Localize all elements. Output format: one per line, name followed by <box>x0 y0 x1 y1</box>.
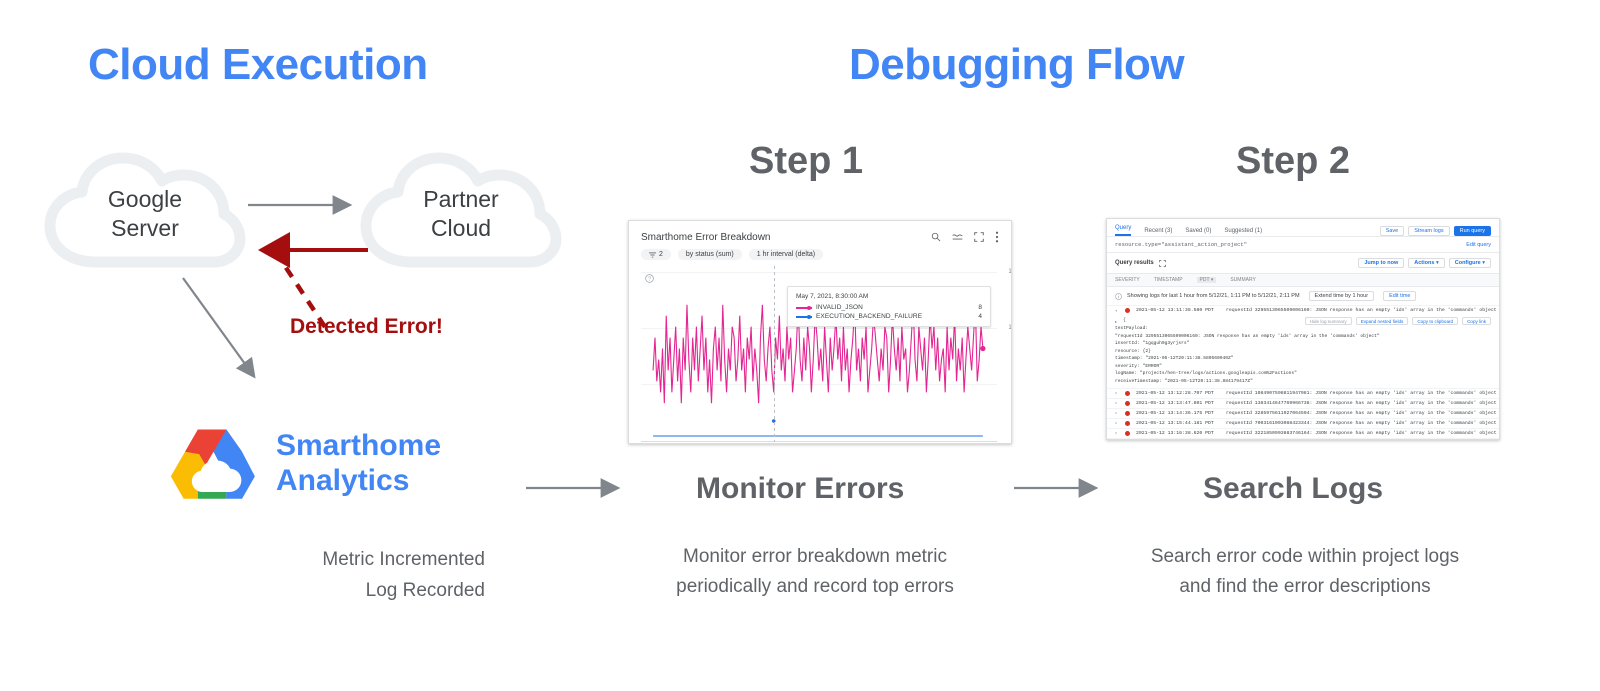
severity-error-icon <box>1125 401 1130 406</box>
fullscreen-icon[interactable] <box>974 232 984 242</box>
chart-tooltip: May 7, 2021, 8:30:00 AM INVALID_JSON 8 E… <box>787 286 991 327</box>
stream-logs-button[interactable]: Stream logs <box>1408 226 1449 236</box>
row-timestamp: 2021-05-12 13:13:47.801 PDT <box>1136 401 1220 406</box>
extend-time-button[interactable]: Extend time by 1 hour <box>1309 291 1375 301</box>
json-line-4: resource: {2} <box>1115 348 1491 356</box>
results-buttons[interactable]: Jump to now Actions ▾ Configure ▾ <box>1358 258 1491 268</box>
jump-to-now-button[interactable]: Jump to now <box>1358 258 1404 268</box>
column-timestamp: TIMESTAMP <box>1154 277 1183 283</box>
chart-plot-area[interactable]: ? 15 10 5 0 UTC-7 May 7 May 8 May 9 May … <box>641 266 1001 442</box>
severity-error-icon <box>1125 391 1130 396</box>
monitoring-chart-screenshot[interactable]: Smarthome Error Breakdown <box>628 220 1012 444</box>
time-range-banner: Showing logs for last 1 hour from 5/12/2… <box>1107 287 1499 305</box>
expanded-log-row[interactable]: ▾ 2021-05-12 13:11:38.580 PDT requestId … <box>1107 305 1499 315</box>
info-icon <box>1115 293 1122 300</box>
row-timestamp: 2021-05-12 13:12:28.707 PDT <box>1136 391 1220 396</box>
partner-cloud-line2: Cloud <box>431 214 491 243</box>
table-row[interactable]: ▸ 2021-05-12 13:48:08.891 PDT requestId … <box>1107 438 1499 440</box>
arrow-analytics-to-step1 <box>524 475 629 501</box>
more-vert-icon[interactable] <box>995 231 999 243</box>
highlight-point-invalid-json <box>980 346 985 351</box>
logo-line-1: Smarthome <box>276 428 441 463</box>
monitor-errors-description: Monitor error breakdown metric periodica… <box>660 542 970 603</box>
google-server-cloud: Google Server <box>44 150 246 272</box>
row-timestamp: 2021-05-12 13:16:38.620 PDT <box>1136 431 1220 436</box>
expanded-row-summary: requestId 3295513065509006160: JSON resp… <box>1226 308 1497 313</box>
copy-link-button[interactable]: Copy link <box>1462 317 1491 325</box>
ytick-10: 10 <box>1008 325 1012 331</box>
configure-button[interactable]: Configure ▾ <box>1449 258 1491 268</box>
chip-interval[interactable]: 1 hr interval (delta) <box>749 249 823 260</box>
json-line-8: receiveTimestamp: "2021-05-12T20:11:38.8… <box>1115 378 1491 386</box>
column-severity: SEVERITY <box>1115 277 1140 283</box>
metric-line-1: Metric Incremented <box>185 545 485 576</box>
tab-suggested[interactable]: Suggested (1) <box>1224 228 1262 234</box>
expand-caret-icon[interactable]: ▸ <box>1115 420 1119 426</box>
edit-time-button[interactable]: Edit time <box>1383 291 1416 301</box>
chart-toolbar[interactable] <box>931 231 999 243</box>
partner-cloud-label: Partner Cloud <box>360 150 562 272</box>
partner-cloud: Partner Cloud <box>360 150 562 272</box>
logs-column-headers: SEVERITY TIMESTAMP PDT ▾ SUMMARY <box>1107 273 1499 287</box>
json-expand-caret-icon[interactable]: ▸ <box>1115 319 1119 324</box>
log-entry-detail: ▸ { Hide log summary Expand nested field… <box>1107 315 1499 388</box>
tooltip-swatch-blue <box>796 316 812 318</box>
chart-filter-chips[interactable]: 2 by status (sum) 1 hr interval (delta) <box>629 245 1011 266</box>
compare-icon[interactable] <box>952 232 963 242</box>
query-text: resource.type="assistant_action_project" <box>1115 241 1247 248</box>
edit-query-button[interactable]: Edit query <box>1466 242 1491 248</box>
cloud-execution-title: Cloud Execution <box>88 40 428 90</box>
expand-caret-icon[interactable]: ▸ <box>1115 410 1119 416</box>
severity-error-icon <box>1125 421 1130 426</box>
tooltip-date: May 7, 2021, 8:30:00 AM <box>796 293 982 300</box>
json-line-3: insertId: "1gqguh0g3yrjsrs" <box>1115 340 1491 348</box>
tooltip-name-invalid-json: INVALID_JSON <box>816 304 958 311</box>
tooltip-value-invalid-json: 8 <box>962 304 982 311</box>
save-button[interactable]: Save <box>1380 226 1405 236</box>
expand-nested-fields-button[interactable]: Expand nested fields <box>1356 317 1409 325</box>
zoom-icon[interactable] <box>931 232 941 242</box>
row-summary: requestId 3221850903883746164: JSON resp… <box>1226 431 1497 436</box>
actions-button[interactable]: Actions ▾ <box>1408 258 1444 268</box>
chart-header: Smarthome Error Breakdown <box>629 221 1011 245</box>
logo-line-2: Analytics <box>276 463 441 498</box>
tooltip-value-backend-failure: 4 <box>962 313 982 320</box>
time-range-text: Showing logs for last 1 hour from 5/12/2… <box>1127 293 1300 299</box>
hide-log-summary-button[interactable]: Hide log summary <box>1305 317 1352 325</box>
google-server-line1: Google <box>108 185 182 214</box>
filter-icon <box>649 252 656 258</box>
tab-recent[interactable]: Recent (3) <box>1144 228 1172 234</box>
json-line-0: { <box>1123 317 1126 325</box>
query-results-bar: Query results Jump to now Actions ▾ Conf… <box>1107 253 1499 273</box>
tooltip-row-invalid-json: INVALID_JSON 8 <box>796 304 982 311</box>
row-summary: requestId 7003161003088423344: JSON resp… <box>1226 421 1497 426</box>
table-row[interactable]: ▸ 2021-05-12 13:13:47.801 PDT requestId … <box>1107 398 1499 408</box>
query-editor[interactable]: resource.type="assistant_action_project"… <box>1107 236 1499 253</box>
expanded-row-timestamp: 2021-05-12 13:11:38.580 PDT <box>1136 308 1220 313</box>
ytick-15: 15 <box>1008 269 1012 275</box>
step-2-heading: Step 2 <box>1236 140 1350 183</box>
expand-caret-icon[interactable]: ▸ <box>1115 400 1119 406</box>
arrow-server-to-analytics <box>175 270 285 395</box>
google-cloud-logo-icon <box>158 424 266 516</box>
tab-saved[interactable]: Saved (0) <box>1185 228 1211 234</box>
row-summary: requestId 3285975611927064504: JSON resp… <box>1226 411 1497 416</box>
logs-tabs[interactable]: Query Recent (3) Saved (0) Suggested (1)… <box>1107 219 1499 236</box>
logs-explorer-screenshot[interactable]: Query Recent (3) Saved (0) Suggested (1)… <box>1106 218 1500 440</box>
detected-error-label: Detected Error! <box>290 315 443 339</box>
google-cloud-logo <box>158 424 266 521</box>
step-1-heading: Step 1 <box>749 140 863 183</box>
chip-filter-count[interactable]: 2 <box>641 249 671 260</box>
json-line-2: "requestId 3295513065509006160: JSON res… <box>1115 333 1491 341</box>
google-server-line2: Server <box>111 214 179 243</box>
search-logs-description: Search error code within project logs an… <box>1150 542 1460 603</box>
expand-caret-icon[interactable]: ▸ <box>1115 390 1119 396</box>
expand-caret-icon[interactable]: ▸ <box>1115 430 1119 436</box>
monitor-errors-label: Monitor Errors <box>696 472 904 506</box>
chart-cursor-line <box>774 266 775 442</box>
column-timezone[interactable]: PDT ▾ <box>1197 277 1217 283</box>
tooltip-name-backend-failure: EXECUTION_BACKEND_FAILURE <box>816 313 958 320</box>
column-summary: SUMMARY <box>1230 277 1255 283</box>
severity-error-icon <box>1125 431 1130 436</box>
severity-error-icon <box>1125 411 1130 416</box>
row-timestamp: 2021-05-12 13:14:36.175 PDT <box>1136 411 1220 416</box>
table-row[interactable]: ▸ 2021-05-12 13:16:38.620 PDT requestId … <box>1107 428 1499 438</box>
smarthome-analytics-label: Smarthome Analytics <box>276 428 441 499</box>
search-logs-label: Search Logs <box>1203 472 1383 506</box>
logs-header-buttons[interactable]: Save Stream logs Run query <box>1380 226 1491 236</box>
query-results-title: Query results <box>1115 260 1154 266</box>
json-line-6: severity: "ERROR" <box>1115 363 1491 371</box>
collapse-caret-icon[interactable]: ▾ <box>1115 308 1119 314</box>
chart-title: Smarthome Error Breakdown <box>641 232 771 243</box>
json-line-5: timestamp: "2021-05-12T20:11:38.58056094… <box>1115 355 1491 363</box>
row-summary: requestId 1383414647769966738: JSON resp… <box>1226 401 1497 406</box>
run-query-button[interactable]: Run query <box>1454 226 1491 236</box>
partner-cloud-line1: Partner <box>423 185 498 214</box>
arrow-step1-to-step2 <box>1012 475 1107 501</box>
google-server-label: Google Server <box>44 150 246 272</box>
chip-group-by[interactable]: by status (sum) <box>678 249 742 260</box>
json-line-1: textPayload: <box>1115 325 1491 333</box>
tab-query[interactable]: Query <box>1115 225 1131 236</box>
severity-error-icon <box>1125 308 1130 313</box>
table-row[interactable]: ▸ 2021-05-12 13:15:44.181 PDT requestId … <box>1107 418 1499 428</box>
json-line-7: logName: "projects/hen-tree/logs/actions… <box>1115 370 1491 378</box>
table-row[interactable]: ▸ 2021-05-12 13:12:28.707 PDT requestId … <box>1107 388 1499 398</box>
metric-line-2: Log Recorded <box>185 576 485 607</box>
chip-filter-count-label: 2 <box>659 251 663 258</box>
expand-results-icon[interactable] <box>1159 260 1166 267</box>
metric-log-caption: Metric Incremented Log Recorded <box>185 545 485 607</box>
copy-to-clipboard-button[interactable]: Copy to clipboard <box>1412 317 1458 325</box>
log-rows-list[interactable]: ▸ 2021-05-12 13:12:28.707 PDT requestId … <box>1107 388 1499 440</box>
table-row[interactable]: ▸ 2021-05-12 13:14:36.175 PDT requestId … <box>1107 408 1499 418</box>
tooltip-swatch-pink <box>796 307 812 309</box>
tooltip-row-backend-failure: EXECUTION_BACKEND_FAILURE 4 <box>796 313 982 320</box>
debugging-flow-title: Debugging Flow <box>849 40 1184 90</box>
row-timestamp: 2021-05-12 13:15:44.181 PDT <box>1136 421 1220 426</box>
row-summary: requestId 1084907598811947981: JSON resp… <box>1226 391 1497 396</box>
